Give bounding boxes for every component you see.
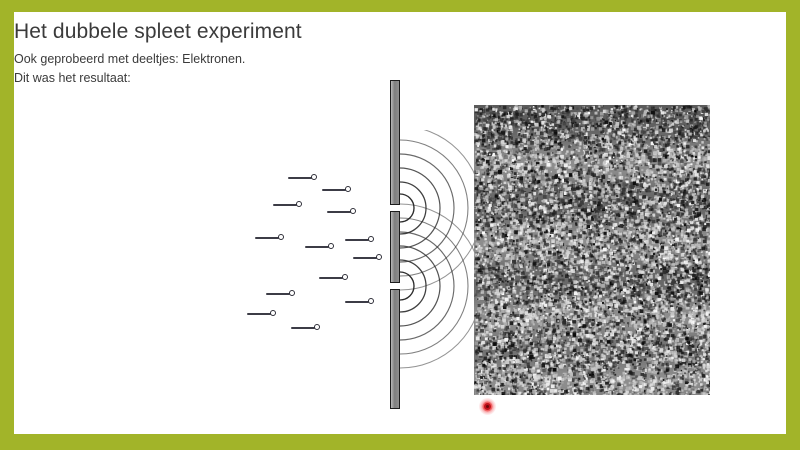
pattern-speckle <box>581 310 583 312</box>
pattern-speckle <box>595 371 596 372</box>
pattern-speckle <box>589 196 592 199</box>
pattern-speckle <box>565 153 567 155</box>
pattern-speckle <box>540 161 543 164</box>
pattern-speckle <box>489 333 491 335</box>
pattern-speckle <box>701 359 703 361</box>
pattern-speckle <box>587 361 590 364</box>
pattern-speckle <box>521 292 524 295</box>
pattern-speckle <box>533 216 536 219</box>
pattern-speckle <box>559 204 562 207</box>
pattern-speckle <box>560 286 561 287</box>
pattern-speckle <box>653 344 655 346</box>
pattern-speckle <box>542 340 545 343</box>
pattern-speckle <box>539 270 541 272</box>
pattern-speckle <box>489 191 492 194</box>
pattern-speckle <box>682 138 685 141</box>
pattern-speckle <box>570 221 572 223</box>
pattern-speckle <box>633 358 636 361</box>
pattern-speckle <box>635 253 637 255</box>
pattern-speckle <box>511 319 512 320</box>
pattern-speckle <box>593 125 595 127</box>
pattern-speckle <box>648 109 650 111</box>
pattern-speckle <box>574 231 577 234</box>
pattern-speckle <box>590 274 592 276</box>
electron-marker <box>247 310 277 317</box>
pattern-speckle <box>527 142 530 145</box>
pattern-speckle <box>502 169 505 172</box>
electron-dot <box>270 310 276 316</box>
electron-trail <box>319 277 343 279</box>
pattern-speckle <box>636 251 638 253</box>
pattern-speckle <box>591 191 593 193</box>
pattern-speckle <box>668 212 670 214</box>
pattern-speckle <box>691 263 693 265</box>
pattern-speckle <box>572 252 575 255</box>
pattern-speckle <box>613 319 614 320</box>
pattern-speckle <box>617 206 619 208</box>
electron-trail <box>247 313 271 315</box>
pattern-speckle <box>638 149 641 152</box>
pattern-speckle <box>532 253 534 255</box>
pattern-speckle <box>670 208 672 210</box>
pattern-speckle <box>613 372 615 374</box>
electron-marker <box>288 174 318 181</box>
pattern-speckle <box>634 366 637 369</box>
pattern-speckle <box>597 374 600 377</box>
detector-pattern-image <box>474 105 710 395</box>
pattern-speckle <box>604 370 606 372</box>
pattern-speckle <box>687 123 689 125</box>
pattern-speckle <box>531 332 532 333</box>
pattern-speckle <box>579 123 580 124</box>
electron-dot <box>278 234 284 240</box>
pattern-speckle <box>655 134 657 136</box>
pattern-speckle <box>670 205 673 208</box>
pattern-speckle <box>509 199 511 201</box>
pattern-speckle <box>555 275 558 278</box>
pattern-speckle <box>489 197 492 200</box>
pattern-speckle <box>516 295 519 298</box>
pattern-speckle <box>594 191 598 195</box>
pattern-speckle <box>663 330 664 331</box>
pattern-speckle <box>478 323 480 325</box>
pattern-speckle <box>538 158 540 160</box>
pattern-speckle <box>638 258 640 260</box>
pattern-speckle <box>581 252 583 254</box>
pattern-speckle <box>676 298 678 300</box>
pattern-speckle <box>685 129 687 131</box>
pattern-speckle <box>562 172 564 174</box>
pattern-speckle <box>543 327 545 329</box>
pattern-speckle <box>698 376 700 378</box>
pattern-speckle <box>678 125 680 127</box>
pattern-speckle <box>613 223 617 227</box>
pattern-speckle <box>494 162 497 165</box>
pattern-speckle <box>507 179 509 181</box>
pattern-speckle <box>628 236 631 239</box>
electron-marker <box>322 186 352 193</box>
pattern-speckle <box>589 147 592 150</box>
pattern-speckle <box>646 341 648 343</box>
pattern-speckle <box>701 303 702 304</box>
pattern-speckle <box>667 162 669 164</box>
electron-marker <box>305 243 335 250</box>
pattern-speckle <box>593 194 596 197</box>
pattern-speckle <box>619 272 623 276</box>
pattern-speckle <box>590 385 593 388</box>
pattern-speckle <box>614 168 616 170</box>
pattern-speckle <box>615 120 617 122</box>
pattern-speckle <box>599 309 602 312</box>
pattern-speckle <box>593 330 595 332</box>
pattern-speckle <box>543 160 547 164</box>
pattern-speckle <box>703 323 705 325</box>
pattern-speckle <box>507 162 509 164</box>
pattern-speckle <box>480 345 482 347</box>
pattern-speckle <box>554 250 556 252</box>
pattern-speckle <box>544 295 545 296</box>
pattern-speckle <box>611 108 613 110</box>
pattern-speckle <box>643 313 645 315</box>
pattern-speckle <box>521 151 523 153</box>
pattern-speckle <box>651 252 654 255</box>
pattern-speckle <box>634 392 635 393</box>
pattern-speckle <box>692 327 694 329</box>
pattern-speckle <box>547 334 549 336</box>
pattern-speckle <box>547 248 549 250</box>
pattern-speckle <box>583 250 585 252</box>
pattern-speckle <box>515 146 517 148</box>
frame-bottom-border <box>0 434 800 450</box>
pattern-speckle <box>582 106 584 108</box>
pattern-speckle <box>492 354 493 355</box>
pattern-speckle <box>529 199 531 201</box>
pattern-speckle <box>519 129 521 131</box>
pattern-speckle <box>629 324 632 327</box>
electron-dot <box>342 274 348 280</box>
pattern-speckle <box>485 247 488 250</box>
pattern-speckle <box>563 352 565 354</box>
pattern-speckle <box>560 122 562 124</box>
pattern-speckle <box>652 133 653 134</box>
pattern-speckle <box>487 291 491 295</box>
pattern-speckle <box>601 216 603 218</box>
pattern-speckle <box>541 353 543 355</box>
pattern-speckle <box>638 317 640 319</box>
pattern-speckle <box>502 251 503 252</box>
pattern-speckle <box>574 203 577 206</box>
pattern-speckle <box>690 283 691 284</box>
pattern-speckle <box>566 270 568 272</box>
pattern-speckle <box>481 341 485 345</box>
pattern-speckle <box>681 389 683 391</box>
pattern-speckle <box>685 394 687 395</box>
pattern-speckle <box>525 341 529 345</box>
pattern-speckle <box>595 279 598 282</box>
pattern-speckle <box>535 231 537 233</box>
pattern-speckle <box>697 337 699 339</box>
pattern-speckle <box>702 146 705 149</box>
pattern-speckle <box>513 284 515 286</box>
pattern-speckle <box>525 260 529 264</box>
pattern-speckle <box>574 365 576 367</box>
pattern-speckle <box>563 377 566 380</box>
pattern-speckle <box>628 198 631 201</box>
pattern-speckle <box>533 238 535 240</box>
pattern-speckle <box>606 345 608 347</box>
electron-trail <box>255 237 279 239</box>
pattern-speckle <box>527 356 529 358</box>
pattern-speckle <box>497 238 499 240</box>
pattern-speckle <box>491 297 493 299</box>
pattern-speckle <box>598 331 600 333</box>
pattern-speckle <box>612 321 614 323</box>
pattern-speckle <box>610 173 612 175</box>
pattern-speckle <box>524 283 527 286</box>
pattern-speckle <box>591 218 594 221</box>
pattern-speckle <box>493 223 496 226</box>
pattern-speckle <box>634 394 637 395</box>
pattern-speckle <box>586 140 588 142</box>
pattern-speckle <box>568 216 571 219</box>
pattern-speckle <box>685 221 687 223</box>
pattern-speckle <box>653 215 656 218</box>
pattern-speckle <box>632 261 634 263</box>
pattern-speckle <box>541 296 543 298</box>
pattern-speckle <box>527 365 530 368</box>
pattern-speckle <box>561 275 563 277</box>
pattern-speckle <box>501 339 504 342</box>
pattern-speckle <box>598 216 600 218</box>
pattern-speckle <box>606 387 608 389</box>
pattern-speckle <box>545 348 548 351</box>
pattern-speckle <box>516 327 518 329</box>
pattern-speckle <box>613 273 615 275</box>
pattern-speckle <box>532 185 534 187</box>
pattern-speckle <box>614 321 616 323</box>
pattern-speckle <box>524 156 526 158</box>
pattern-speckle <box>677 269 679 271</box>
pattern-speckle <box>647 358 651 362</box>
pattern-speckle <box>531 239 532 240</box>
pattern-speckle <box>521 281 523 283</box>
pattern-speckle <box>495 180 497 182</box>
pattern-speckle <box>493 180 495 182</box>
pattern-speckle <box>578 209 581 212</box>
pattern-speckle <box>623 295 625 297</box>
pattern-speckle <box>610 248 613 251</box>
pattern-speckle <box>498 310 500 312</box>
pattern-speckle <box>485 393 487 395</box>
pattern-speckle <box>586 281 588 283</box>
pattern-speckle <box>598 233 600 235</box>
pattern-speckle <box>688 277 690 279</box>
pattern-speckle <box>485 113 486 114</box>
pattern-speckle <box>687 197 688 198</box>
pattern-speckle <box>475 221 477 223</box>
pattern-speckle <box>547 388 550 391</box>
pattern-speckle <box>545 375 547 377</box>
pattern-speckle <box>676 379 678 381</box>
pattern-speckle <box>600 232 602 234</box>
electron-dot <box>314 324 320 330</box>
pattern-speckle <box>533 160 534 161</box>
pattern-speckle <box>560 187 561 188</box>
pattern-speckle <box>603 394 605 395</box>
pattern-speckle <box>698 137 700 139</box>
electron-trail <box>291 327 315 329</box>
pattern-speckle <box>497 373 499 375</box>
pattern-speckle <box>579 393 581 395</box>
pattern-speckle <box>520 123 522 125</box>
pattern-speckle <box>589 302 591 304</box>
pattern-speckle <box>568 166 571 169</box>
pattern-speckle <box>620 300 622 302</box>
pattern-speckle <box>554 283 556 285</box>
pattern-speckle <box>484 309 486 311</box>
pattern-speckle <box>628 297 631 300</box>
pattern-speckle <box>632 307 635 310</box>
pattern-speckle <box>642 165 644 167</box>
pattern-speckle <box>621 194 623 196</box>
pattern-speckle <box>686 194 689 197</box>
pattern-speckle <box>601 376 603 378</box>
pattern-speckle <box>546 225 550 229</box>
pattern-speckle <box>707 233 709 235</box>
pattern-speckle <box>516 113 519 116</box>
pattern-speckle <box>530 218 533 221</box>
pattern-speckle <box>673 113 675 115</box>
pattern-speckle <box>501 303 504 306</box>
pattern-speckle <box>561 340 563 342</box>
pattern-speckle <box>478 330 480 332</box>
pattern-speckle <box>590 201 593 204</box>
pattern-speckle <box>502 228 504 230</box>
pattern-speckle <box>657 327 660 330</box>
pattern-speckle <box>572 119 575 122</box>
electron-marker <box>327 208 357 215</box>
pattern-speckle <box>541 187 543 189</box>
pattern-speckle <box>581 362 582 363</box>
pattern-speckle <box>520 125 522 127</box>
pattern-speckle <box>655 387 657 389</box>
pattern-speckle <box>490 232 493 235</box>
pattern-speckle <box>492 198 494 200</box>
pattern-speckle <box>531 290 534 293</box>
pattern-speckle <box>533 260 535 262</box>
pattern-speckle <box>620 244 621 245</box>
pattern-speckle <box>602 211 604 213</box>
electron-trail <box>273 204 297 206</box>
pattern-speckle <box>676 110 678 112</box>
electron-dot <box>289 290 295 296</box>
pattern-speckle <box>691 163 693 165</box>
pattern-speckle <box>634 237 635 238</box>
electron-dot <box>328 243 334 249</box>
pattern-speckle <box>702 349 704 351</box>
pattern-speckle <box>686 217 687 218</box>
pattern-speckle <box>510 351 513 354</box>
pattern-speckle <box>630 279 634 283</box>
pattern-speckle <box>504 209 506 211</box>
pattern-speckle <box>524 353 526 355</box>
electron-marker <box>353 254 383 261</box>
pattern-speckle <box>647 179 649 181</box>
pattern-speckle <box>568 163 570 165</box>
pattern-speckle <box>598 344 600 346</box>
pattern-speckle <box>551 121 552 122</box>
pattern-speckle <box>608 247 610 249</box>
pattern-speckle <box>582 393 584 395</box>
pattern-speckle <box>582 121 586 125</box>
pattern-speckle <box>481 171 484 174</box>
electron-trail <box>353 257 377 259</box>
pattern-speckle <box>655 209 656 210</box>
pattern-speckle <box>537 281 540 284</box>
subtitle-line-2: Dit was het resultaat: <box>14 71 131 85</box>
pattern-speckle <box>519 113 522 116</box>
pattern-speckle <box>588 204 589 205</box>
pattern-speckle <box>604 208 606 210</box>
pattern-speckle <box>559 362 561 364</box>
pattern-speckle <box>546 193 548 195</box>
pattern-speckle <box>690 253 691 254</box>
pattern-speckle <box>548 161 550 163</box>
pattern-speckle <box>615 180 619 184</box>
pattern-speckle <box>486 368 488 370</box>
pattern-speckle <box>564 170 567 173</box>
electron-marker <box>255 234 285 241</box>
pattern-speckle <box>694 146 697 149</box>
pattern-speckle <box>667 242 669 244</box>
pattern-speckle <box>501 381 504 384</box>
pattern-speckle <box>564 334 566 336</box>
pattern-speckle <box>563 373 567 377</box>
pattern-speckle <box>703 358 705 360</box>
pattern-speckle <box>671 195 672 196</box>
pattern-speckle <box>660 331 662 333</box>
barrier-segment-1 <box>390 80 400 205</box>
pattern-speckle <box>707 153 710 156</box>
pattern-speckle <box>693 147 694 148</box>
pattern-speckle <box>579 280 581 282</box>
pattern-speckle <box>515 322 517 324</box>
electron-dot <box>345 186 351 192</box>
pattern-speckle <box>657 393 659 395</box>
pattern-speckle <box>542 137 545 140</box>
pattern-speckle <box>650 226 652 228</box>
pattern-speckle <box>673 330 675 332</box>
electron-marker <box>291 324 321 331</box>
pattern-speckle <box>553 394 556 395</box>
pattern-speckle <box>551 372 553 374</box>
pattern-speckle <box>560 180 562 182</box>
pattern-speckle <box>507 192 509 194</box>
pattern-speckle <box>645 136 647 138</box>
pattern-speckle <box>505 291 506 292</box>
pattern-speckle <box>626 180 629 183</box>
pattern-speckle <box>504 199 505 200</box>
pattern-speckle <box>474 207 476 209</box>
pattern-speckle <box>486 331 489 334</box>
pattern-speckle <box>701 280 703 282</box>
pattern-speckle <box>519 174 521 176</box>
electron-marker <box>345 298 375 305</box>
pattern-speckle <box>709 243 710 246</box>
pattern-speckle <box>599 150 601 152</box>
pattern-speckle <box>542 369 545 372</box>
pattern-speckle <box>533 230 535 232</box>
